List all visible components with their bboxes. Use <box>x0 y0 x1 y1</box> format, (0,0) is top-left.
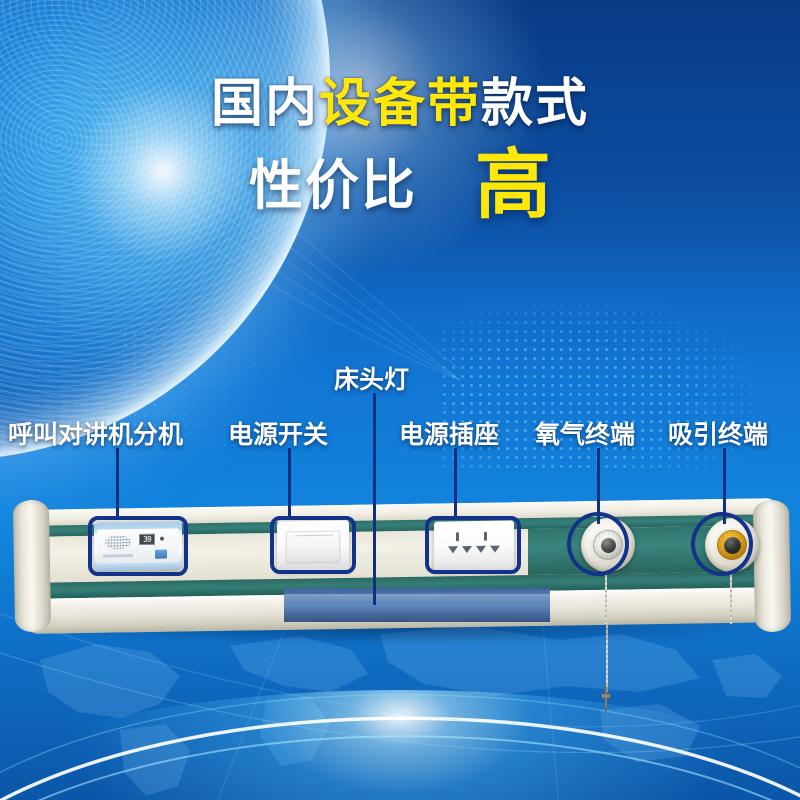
callout-label-power-socket: 电源插座 <box>399 415 499 451</box>
callout-label-suction-outlet: 吸引终端 <box>668 415 768 451</box>
leader-line-bed-lamp <box>373 393 376 605</box>
highlight-power-switch <box>270 516 356 574</box>
highlight-oxygen-outlet <box>567 512 629 576</box>
highlight-intercom <box>88 516 188 576</box>
highlight-suction-outlet <box>691 512 753 576</box>
callout-label-intercom: 呼叫对讲机分机 <box>8 415 183 451</box>
leader-line-intercom <box>116 448 119 520</box>
callout-label-bed-lamp: 床头灯 <box>334 360 409 396</box>
callout-label-oxygen-outlet: 氧气终端 <box>535 415 635 451</box>
leader-line-power-socket <box>454 448 457 516</box>
callout-label-power-switch: 电源开关 <box>228 415 328 451</box>
highlight-power-socket <box>425 516 521 574</box>
callout-layer: 呼叫对讲机分机 电源开关 床头灯 电源插座 氧气终端 吸引终端 <box>0 0 800 800</box>
leader-line-power-switch <box>288 448 291 518</box>
poster-canvas: 国内设备带款式 性价比 高 呼叫对讲机分机 电源开关 床头灯 电源插座 氧气终端… <box>0 0 800 800</box>
